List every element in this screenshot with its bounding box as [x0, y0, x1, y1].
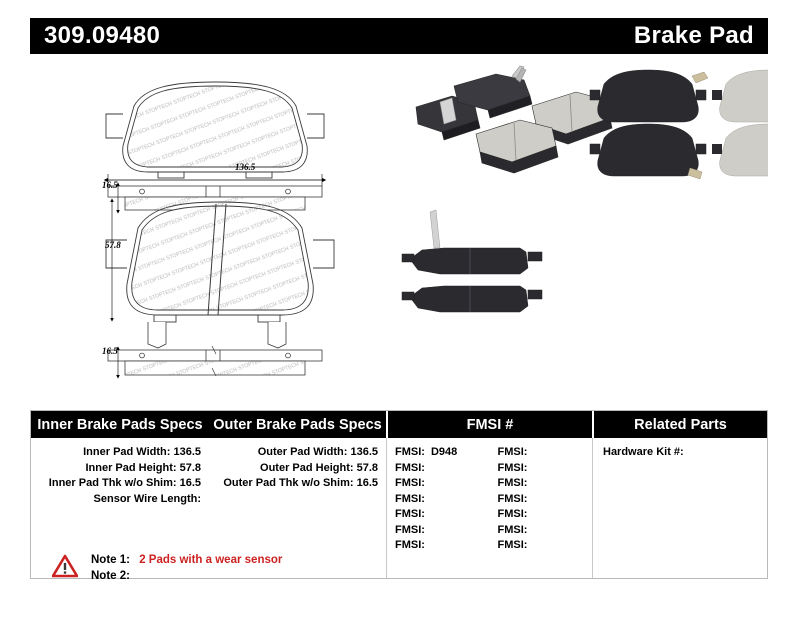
dim-label-width: 136.5: [235, 162, 255, 172]
spec-line: Inner Pad Thk w/o Shim: 16.5: [31, 476, 201, 492]
table-header-row: Inner Brake Pads Specs Outer Brake Pads …: [31, 411, 767, 438]
brake-pad-drawing-svg: STOPTECH: [30, 62, 400, 392]
fmsi-entry: FMSI:: [395, 507, 490, 523]
fmsi-label: FMSI:: [498, 446, 528, 458]
fmsi-label: FMSI:: [498, 539, 528, 551]
fmsi-label: FMSI:: [498, 524, 528, 536]
warning-triangle-icon: [52, 554, 78, 578]
fmsi-entry: FMSI:D948: [395, 445, 490, 461]
fmsi-label: FMSI:: [395, 462, 425, 474]
photo-angled-pad-group: [416, 66, 612, 173]
spec-line: Outer Pad Width: 136.5: [209, 445, 378, 461]
width-dimension-line: [108, 174, 322, 186]
spec-line: Sensor Wire Length:: [31, 492, 201, 508]
photo-pad-light-top: [712, 70, 768, 122]
product-photos-svg: [400, 62, 768, 392]
spec-line: Outer Pad Height: 57.8: [209, 461, 378, 477]
fmsi-entry: FMSI:: [395, 538, 490, 554]
dim-label-thickness-bottom: 16.5: [102, 346, 118, 356]
column-header-inner-specs: Inner Brake Pads Specs: [31, 411, 209, 438]
spec-line: Inner Pad Width: 136.5: [31, 445, 201, 461]
part-number: 309.09480: [44, 22, 160, 50]
spec-line: Outer Pad Thk w/o Shim: 16.5: [209, 476, 378, 492]
pad-face-view-top: [128, 86, 303, 167]
photo-pad-light-bottom: [712, 124, 768, 176]
note-2-row: Note 2:: [91, 568, 282, 584]
related-parts-cell: Hardware Kit #:: [592, 438, 767, 578]
title-bar: 309.09480 Brake Pad: [30, 18, 768, 54]
note-lines: Note 1: 2 Pads with a wear sensor Note 2…: [91, 552, 282, 584]
fmsi-label: FMSI:: [498, 462, 528, 474]
product-illustration-area: STOPTECH: [30, 62, 768, 392]
dim-label-thickness-top: 16.5: [102, 180, 118, 190]
fmsi-entry: FMSI:: [498, 445, 593, 461]
product-photographs: [400, 62, 768, 392]
column-header-outer-specs: Outer Brake Pads Specs: [209, 411, 386, 438]
fmsi-column-right: FMSI: FMSI: FMSI: FMSI: FMSI: FMSI: FMSI…: [490, 445, 593, 578]
fmsi-label: FMSI:: [395, 477, 425, 489]
note-1-value: 2 Pads with a wear sensor: [139, 554, 282, 566]
fmsi-entry: FMSI:: [395, 461, 490, 477]
fmsi-label: FMSI:: [498, 477, 528, 489]
fmsi-entry: FMSI:: [498, 492, 593, 508]
technical-line-drawings: STOPTECH: [30, 62, 400, 392]
column-header-fmsi: FMSI #: [388, 411, 592, 438]
column-header-related-parts: Related Parts: [594, 411, 767, 438]
dim-label-height: 57.8: [105, 240, 121, 250]
pad-face-view-bottom: [132, 206, 309, 310]
fmsi-label: FMSI:: [395, 446, 425, 458]
fmsi-cell: FMSI:D948 FMSI: FMSI: FMSI: FMSI: FMSI: …: [386, 438, 592, 578]
photo-pad-edge-with-sensor: [402, 210, 542, 274]
fmsi-label: FMSI:: [395, 493, 425, 505]
fmsi-entry: FMSI:: [498, 523, 593, 539]
photo-pad-edge-plain: [402, 286, 542, 312]
fmsi-label: FMSI:: [498, 493, 528, 505]
note-1-row: Note 1: 2 Pads with a wear sensor: [91, 552, 282, 568]
fmsi-entry: FMSI:: [498, 476, 593, 492]
fmsi-entry: FMSI:: [395, 476, 490, 492]
note-1-label: Note 1:: [91, 554, 130, 566]
fmsi-entry: FMSI:: [498, 461, 593, 477]
fmsi-entry: FMSI:: [498, 507, 593, 523]
photo-pad-dark-bottom: [590, 124, 706, 179]
photo-pad-dark-top: [590, 70, 708, 122]
fmsi-label: FMSI:: [498, 508, 528, 520]
notes-section: Note 1: 2 Pads with a wear sensor Note 2…: [52, 552, 282, 584]
fmsi-column-left: FMSI:D948 FMSI: FMSI: FMSI: FMSI: FMSI: …: [387, 445, 490, 578]
page-title: Brake Pad: [634, 22, 754, 50]
fmsi-label: FMSI:: [395, 524, 425, 536]
spec-line: Inner Pad Height: 57.8: [31, 461, 201, 477]
fmsi-entry: FMSI:: [395, 492, 490, 508]
clip-hardware: [148, 322, 286, 348]
fmsi-entry: FMSI:: [395, 523, 490, 539]
related-part-line: Hardware Kit #:: [603, 445, 767, 461]
pad-edge-view-bottom: [108, 346, 322, 376]
fmsi-entry: FMSI:: [498, 538, 593, 554]
fmsi-label: FMSI:: [395, 539, 425, 551]
fmsi-label: FMSI:: [395, 508, 425, 520]
fmsi-value: D948: [431, 446, 457, 458]
note-2-label: Note 2:: [91, 570, 130, 582]
